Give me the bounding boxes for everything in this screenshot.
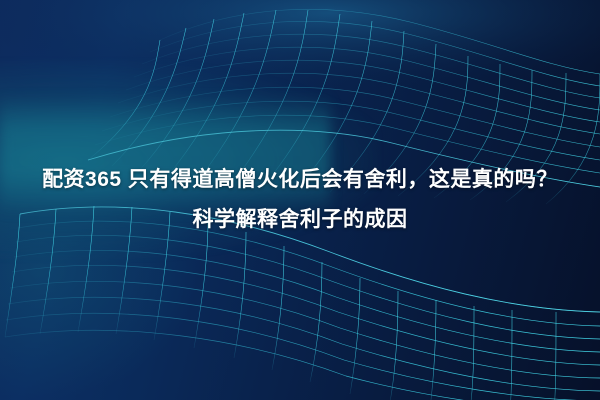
banner-image: 配资365 只有得道高僧火化后会有舍利，这是真的吗？科学解释舍利子的成因 bbox=[0, 0, 600, 400]
title-container: 配资365 只有得道高僧火化后会有舍利，这是真的吗？科学解释舍利子的成因 bbox=[0, 0, 600, 400]
banner-title: 配资365 只有得道高僧火化后会有舍利，这是真的吗？科学解释舍利子的成因 bbox=[40, 160, 560, 240]
